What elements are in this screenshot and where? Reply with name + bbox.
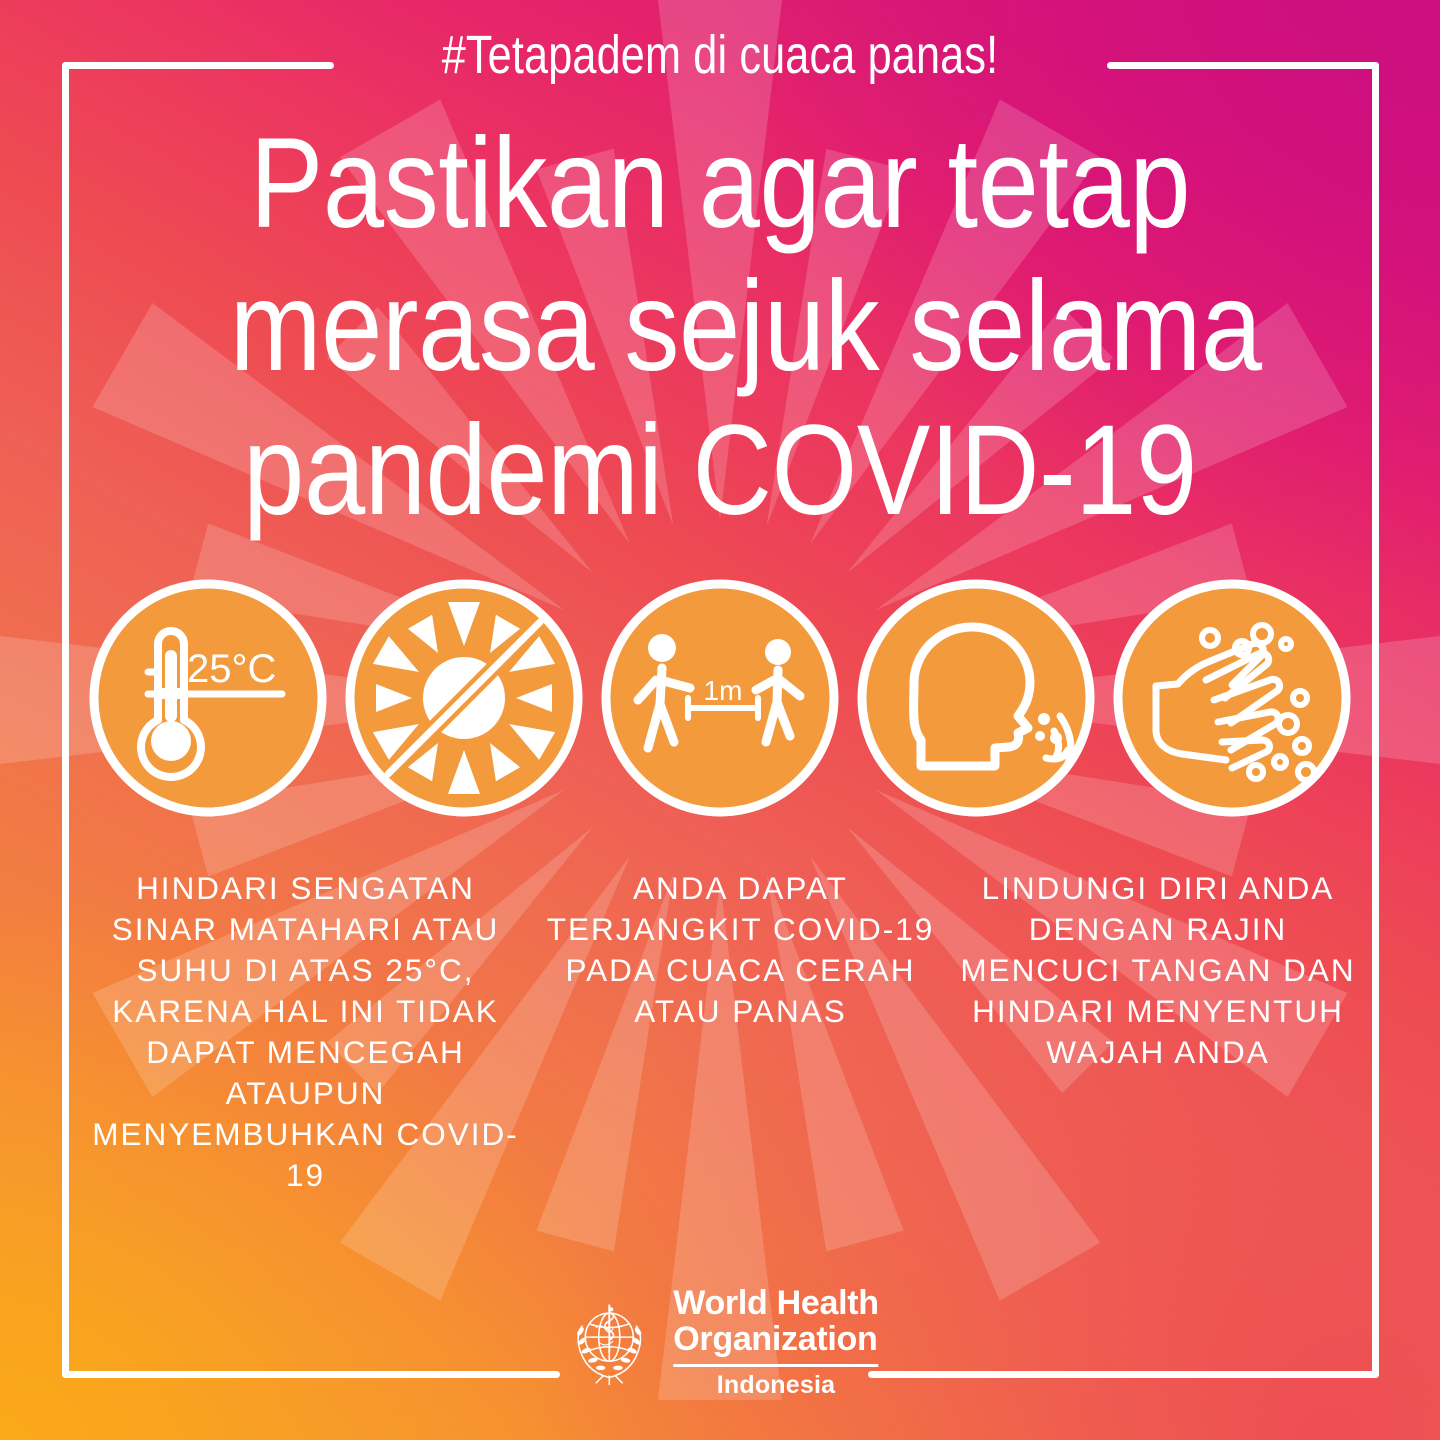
- hashtag-text: #Tetapadem di cuaca panas!: [144, 24, 1296, 86]
- who-wordmark: World Health Organization Indonesia: [673, 1285, 878, 1398]
- poster-canvas: #Tetapadem di cuaca panas! Pastikan agar…: [0, 0, 1440, 1440]
- who-country-label: Indonesia: [717, 1373, 836, 1398]
- who-divider: [673, 1364, 878, 1367]
- physical-distance-icon: 1m: [598, 576, 842, 820]
- who-emblem-icon: [561, 1293, 657, 1389]
- sun-no-icon: [342, 576, 586, 820]
- who-name-line-2: Organization: [673, 1321, 877, 1357]
- headline-line-3: pandemi COVID-19: [230, 399, 1210, 542]
- caption-column-1: Hindari sengatan sinar matahari atau suh…: [78, 868, 533, 1196]
- headline-line-1: Pastikan agar tetap: [230, 112, 1210, 255]
- cough-head-icon: [854, 576, 1098, 820]
- caption-column-3: Lindungi diri anda dengan rajin mencuci …: [948, 868, 1368, 1073]
- caption-column-2: Anda dapat terjangkit COVID-19 pada cuac…: [533, 868, 948, 1032]
- handwash-icon: [1110, 576, 1354, 820]
- who-name-line-1: World Health: [673, 1285, 878, 1321]
- headline-line-2: merasa sejuk selama: [230, 255, 1210, 398]
- thermometer-temp-label: 25°C: [187, 647, 276, 691]
- icon-row: 25°C: [86, 573, 1354, 823]
- caption-row: Hindari sengatan sinar matahari atau suh…: [78, 868, 1368, 1196]
- page-title: Pastikan agar tetap merasa sejuk selama …: [230, 112, 1210, 542]
- thermometer-icon: 25°C: [86, 576, 330, 820]
- who-logo: World Health Organization Indonesia: [561, 1285, 878, 1398]
- distance-label: 1m: [704, 675, 743, 706]
